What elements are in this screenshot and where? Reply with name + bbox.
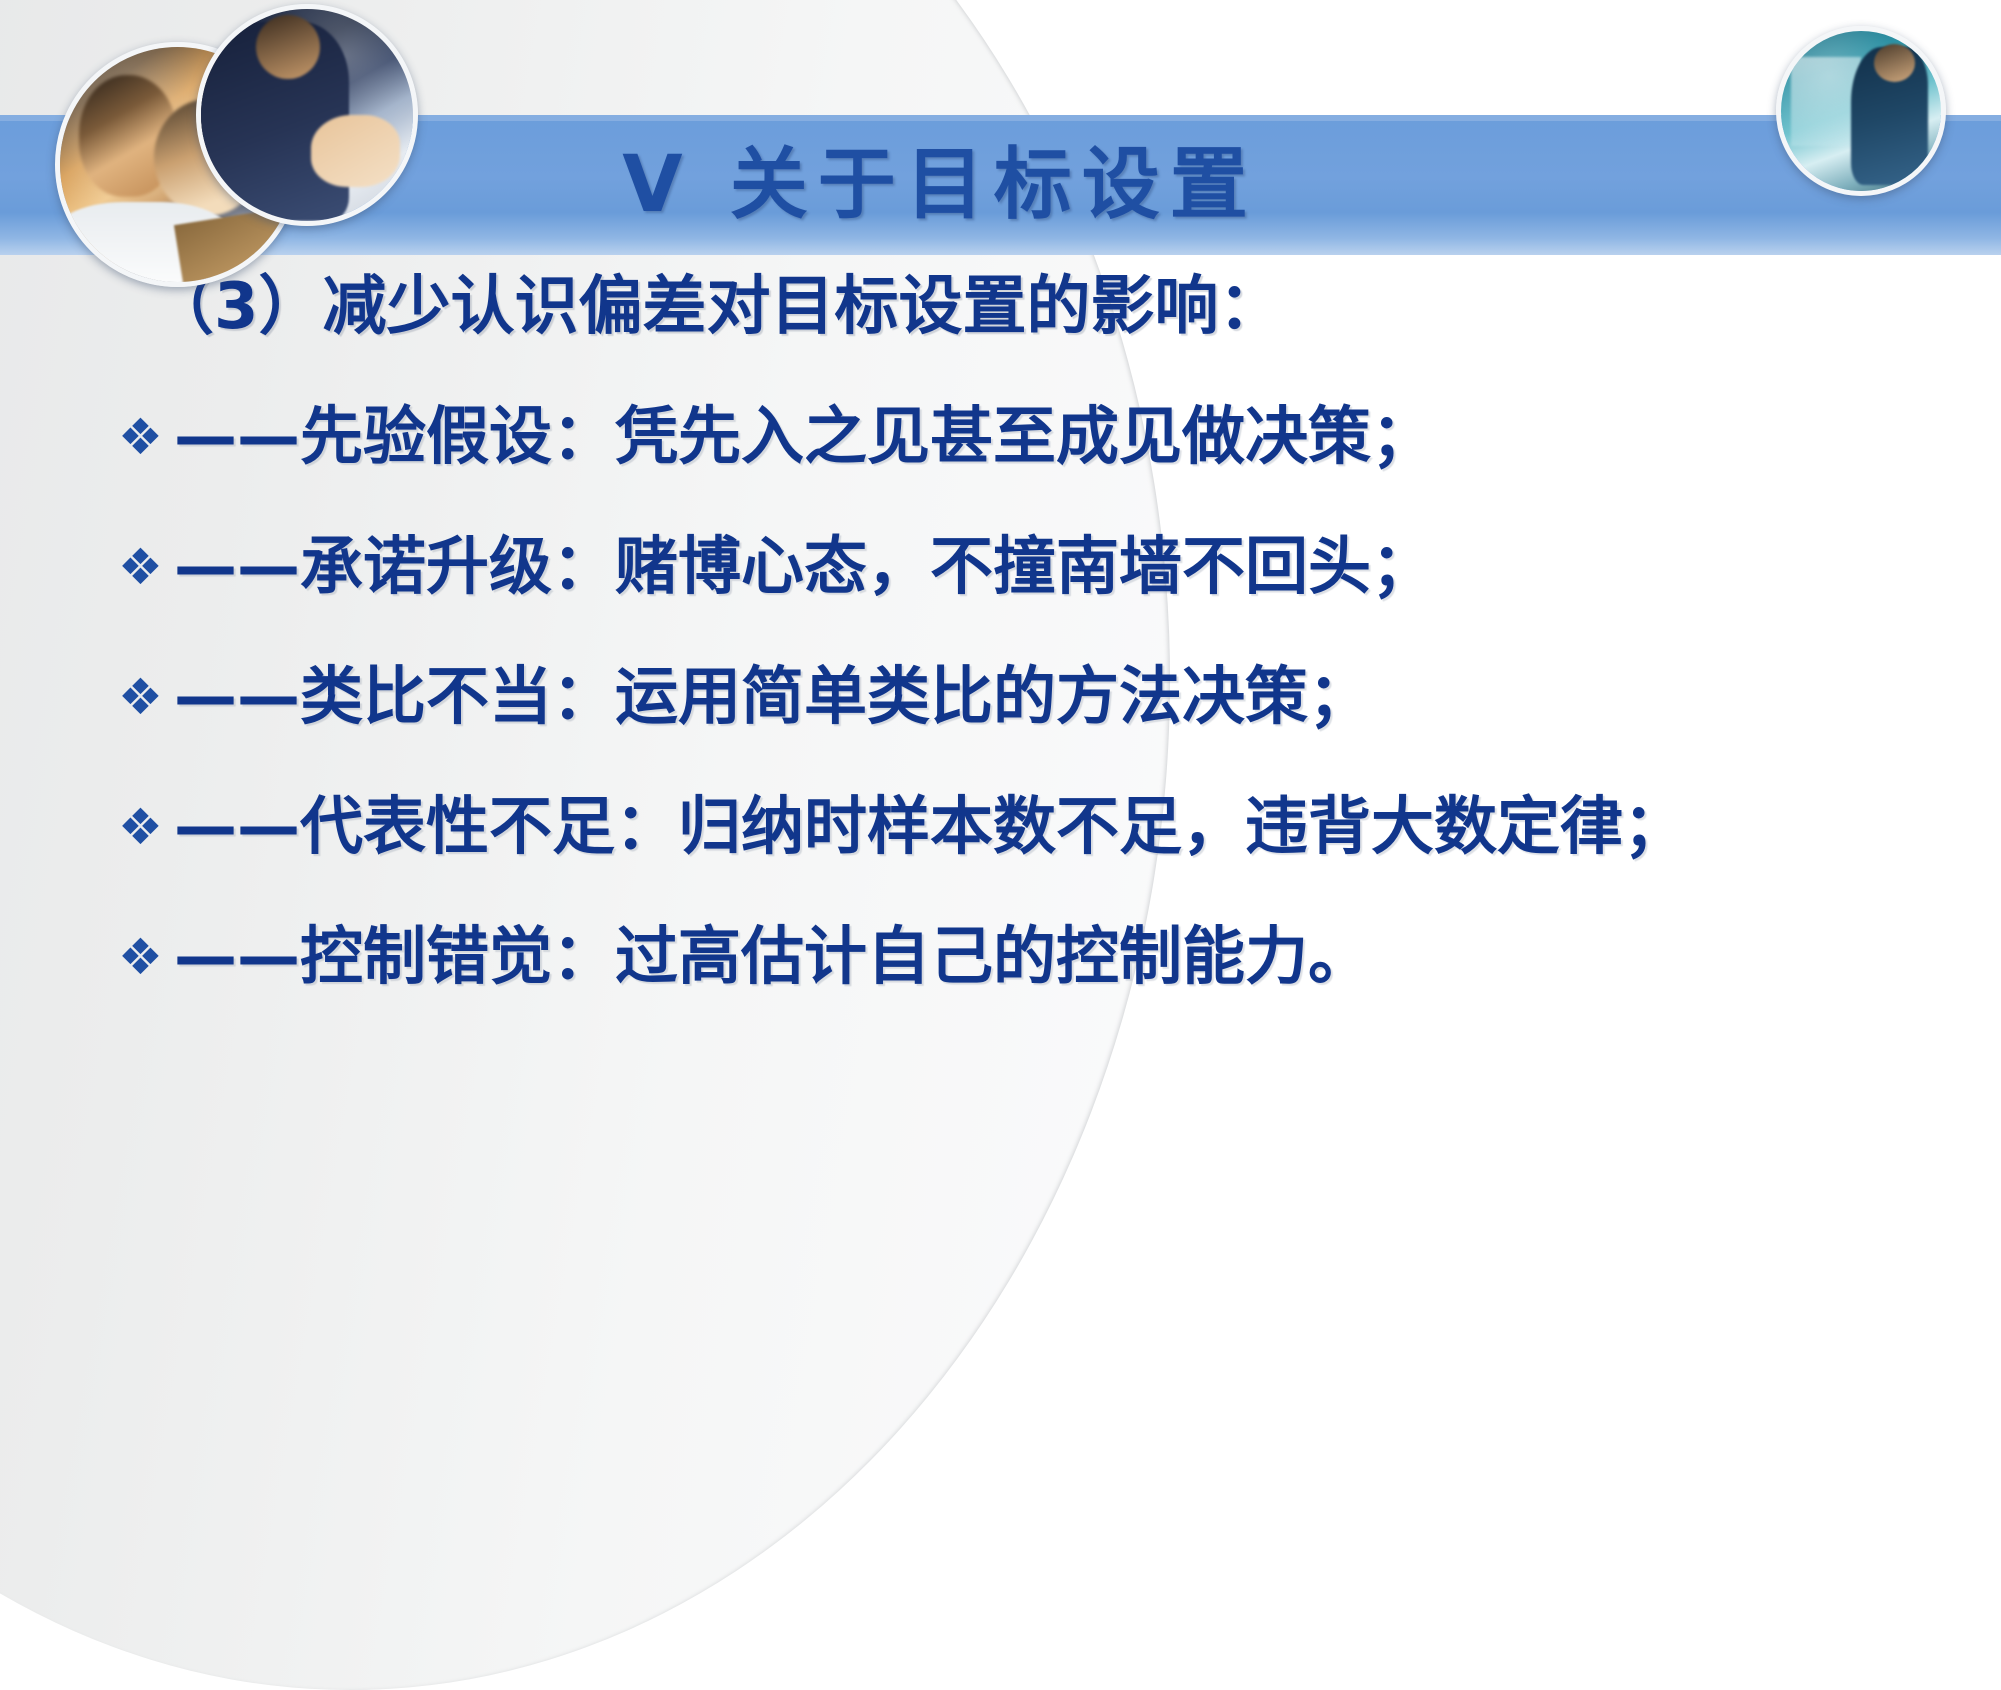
diamond-bullet-icon: ❖ bbox=[118, 655, 174, 739]
photo-bubble-3-image bbox=[1781, 31, 1941, 191]
photo-bubble-handshake-suit bbox=[196, 4, 418, 226]
diamond-bullet-icon: ❖ bbox=[118, 785, 174, 869]
list-item: ❖ ——类比不当：运用简单类比的方法决策； bbox=[118, 655, 1958, 739]
photo-head bbox=[256, 15, 320, 79]
photo-hand bbox=[311, 115, 400, 187]
list-item: ❖ ——控制错觉：过高估计自己的控制能力。 bbox=[118, 915, 1958, 999]
list-item: ❖ ——先验假设：凭先入之见甚至成见做决策； bbox=[118, 395, 1958, 479]
diamond-bullet-icon: ❖ bbox=[118, 915, 174, 999]
list-item-text: ——代表性不足：归纳时样本数不足，违背大数定律； bbox=[174, 785, 1914, 869]
intro-heading: （3）减少认识偏差对目标设置的影响： bbox=[150, 267, 1283, 347]
list-item-text: ——承诺升级：赌博心态，不撞南墙不回头； bbox=[174, 525, 1958, 609]
diamond-bullet-icon: ❖ bbox=[118, 395, 174, 479]
photo-bubble-presenter-at-whiteboard bbox=[1776, 26, 1946, 196]
list-item-text: ——先验假设：凭先入之见甚至成见做决策； bbox=[174, 395, 1958, 479]
list-item-text: ——类比不当：运用简单类比的方法决策； bbox=[174, 655, 1958, 739]
photo-bubble-2-image bbox=[201, 9, 413, 221]
list-item-text: ——控制错觉：过高估计自己的控制能力。 bbox=[174, 915, 1958, 999]
list-item: ❖ ——承诺升级：赌博心态，不撞南墙不回头； bbox=[118, 525, 1958, 609]
diamond-bullet-icon: ❖ bbox=[118, 525, 174, 609]
list-item: ❖ ——代表性不足：归纳时样本数不足，违背大数定律； bbox=[118, 785, 1958, 869]
bullet-list: ❖ ——先验假设：凭先入之见甚至成见做决策； ❖ ——承诺升级：赌博心态，不撞南… bbox=[118, 395, 1958, 1045]
